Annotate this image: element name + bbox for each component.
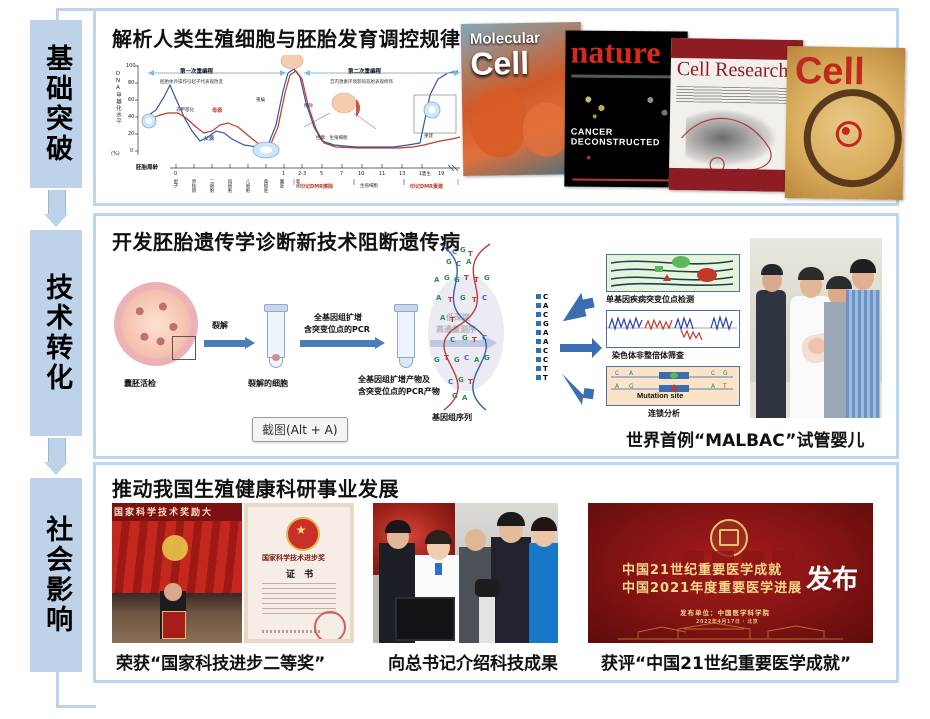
panel-foundation: 解析人类生殖细胞与胚胎发育调控规律 DNA甲基化水平 (%) 100 80 60… bbox=[93, 8, 899, 206]
svg-text:G: G bbox=[484, 354, 490, 362]
chart-x-tick: 1 bbox=[282, 171, 285, 177]
chart-stage-label: 二细胞 bbox=[208, 179, 214, 193]
base-letter: A bbox=[543, 302, 548, 310]
poster-badge: 发布 bbox=[806, 559, 858, 596]
photo-medical-achievement-poster: 中国21世纪重要医学成就 中国2021年度重要医学进展 发布 发布单位：中国医学… bbox=[588, 503, 873, 643]
svg-text:G: G bbox=[444, 274, 450, 282]
svg-text:C: C bbox=[452, 248, 457, 256]
svg-text:G: G bbox=[629, 383, 634, 390]
workflow-arrow-label-pcr: 含突变位点的PCR bbox=[304, 324, 370, 335]
svg-text:C: C bbox=[615, 370, 619, 377]
svg-text:A: A bbox=[629, 370, 634, 377]
base-letter: T bbox=[543, 374, 548, 382]
base-letter: C bbox=[543, 311, 548, 319]
result-box-snv bbox=[606, 254, 740, 292]
result-box-aneuploidy bbox=[606, 310, 740, 348]
workflow-label-biopsy: 囊胚活检 bbox=[124, 378, 156, 389]
chart-phase1-label: 第一次重编程 bbox=[180, 67, 213, 75]
chart-x-tick: 5 bbox=[320, 171, 323, 177]
svg-text:T: T bbox=[468, 250, 473, 258]
svg-text:T: T bbox=[468, 378, 473, 386]
svg-text:T: T bbox=[464, 274, 469, 282]
result-label-linkage: 连锁分析 bbox=[648, 408, 680, 419]
stage-label-foundation: 基础突破 bbox=[42, 44, 70, 164]
chart-phase2-sub: 宫内激素环境影响双胎表观修饰 bbox=[330, 79, 393, 85]
svg-text:C: C bbox=[482, 334, 487, 342]
photo-certificate: 国家科学技术进步奖 证 书 bbox=[244, 503, 354, 643]
svg-text:C: C bbox=[456, 260, 461, 268]
photo-award-ceremony: 国家科学技术奖励大 bbox=[112, 503, 242, 643]
panel-impact-title: 推动我国生殖健康科研事业发展 bbox=[112, 473, 399, 502]
workflow-arrow-1 bbox=[204, 340, 246, 347]
biopsy-selection-box bbox=[172, 336, 196, 360]
svg-text:A: A bbox=[434, 276, 440, 284]
chart-series-erase: 擦除 bbox=[304, 103, 313, 109]
stage-arrow-2 bbox=[44, 438, 68, 475]
stage-box-foundation: 基础突破 bbox=[30, 20, 82, 188]
chart-stage-label: 八细胞 bbox=[244, 179, 250, 193]
stage-box-translation: 技术转化 bbox=[30, 230, 82, 436]
chart-annotation-birth: 出生 bbox=[422, 171, 431, 177]
poster-line-2: 中国2021年度重要医学进展 bbox=[622, 577, 802, 596]
stage-box-impact: 社会影响 bbox=[30, 478, 82, 672]
stage-arrow-1 bbox=[44, 190, 68, 227]
poster-skyline bbox=[618, 615, 843, 641]
photo-malbac-baby bbox=[750, 238, 882, 418]
svg-text:T: T bbox=[444, 354, 449, 362]
methylation-curves bbox=[108, 55, 468, 195]
chart-stage-label: 配子 bbox=[172, 179, 178, 188]
chart-x-tick: 13 bbox=[399, 171, 405, 177]
svg-text:T: T bbox=[474, 276, 479, 284]
svg-text:G: G bbox=[458, 376, 464, 384]
poster-line-1: 中国21世纪重要医学成就 bbox=[622, 559, 782, 578]
chart-series-paternal: 父源 bbox=[204, 135, 214, 142]
svg-text:G: G bbox=[452, 392, 458, 400]
workflow-label-lysed-cell: 裂解的细胞 bbox=[248, 378, 288, 389]
base-letter: C bbox=[543, 293, 548, 301]
svg-text:T: T bbox=[450, 316, 455, 324]
snv-illustration bbox=[607, 255, 737, 289]
genome-base-column: C A C G A A C C T T bbox=[536, 292, 558, 382]
panel-impact: 推动我国生殖健康科研事业发展 国家科学技术奖励大 国家科学技术进步奖 证 书 荣… bbox=[93, 462, 899, 683]
result-box-linkage: C A A G C G A T Mutation site bbox=[606, 366, 740, 406]
svg-text:C: C bbox=[450, 336, 455, 344]
journal-cover-cell-research: Cell Research bbox=[669, 38, 804, 192]
result-branch-arrows bbox=[558, 268, 602, 418]
svg-text:T: T bbox=[472, 336, 477, 344]
chart-phase2-label: 第二次重编程 bbox=[348, 67, 381, 75]
snip-tooltip-label: 截图 bbox=[262, 423, 286, 437]
chart-series-reprogram: 重编 bbox=[256, 97, 265, 103]
chart-stage-label: 桑椹胚 bbox=[262, 179, 268, 193]
svg-text:C: C bbox=[464, 354, 469, 362]
chart-series-demethylation: 去甲基化 bbox=[176, 107, 194, 113]
stage-label-impact: 社会影响 bbox=[42, 515, 70, 635]
chart-annotation-dmr-erase: 印记DMR擦除 bbox=[300, 183, 333, 190]
stage-label-translation: 技术转化 bbox=[42, 273, 70, 393]
photo-leader-briefing bbox=[373, 503, 558, 643]
journal-cover-label: nature bbox=[570, 37, 660, 68]
result-label-snv: 单基因疾病突变位点检测 bbox=[606, 294, 694, 305]
svg-text:A: A bbox=[474, 356, 480, 364]
svg-text:A: A bbox=[436, 294, 442, 302]
base-letter: G bbox=[543, 320, 549, 328]
caption-briefing: 向总书记介绍科技成果 bbox=[388, 649, 558, 674]
snip-tool-tooltip[interactable]: 截图(Alt + A) bbox=[252, 417, 348, 442]
base-letter: A bbox=[543, 329, 548, 337]
svg-text:T: T bbox=[722, 383, 727, 390]
chart-annotation-gonad: 性腺：生殖细胞 bbox=[316, 135, 348, 141]
svg-text:G: G bbox=[460, 294, 466, 302]
chart-x-tick: 19 bbox=[438, 171, 444, 177]
svg-text:G: G bbox=[446, 258, 452, 266]
panel-foundation-title: 解析人类生殖细胞与胚胎发育调控规律 bbox=[112, 23, 461, 52]
base-letter: C bbox=[543, 356, 548, 364]
chart-annotation-dmr-rebuild: 印记DMR重建 bbox=[410, 183, 443, 190]
svg-text:G: G bbox=[454, 276, 460, 284]
caption-medical-achievement: 获评“中国21世纪重要医学成就” bbox=[601, 649, 851, 674]
svg-text:C: C bbox=[482, 294, 487, 302]
caption-malbac-baby: 世界首例“MALBAC”试管婴儿 bbox=[626, 426, 864, 451]
chart-annotation-germ-cells: 生殖细胞 bbox=[360, 183, 378, 189]
chart-series-maternal: 母源 bbox=[212, 107, 222, 114]
result-label-aneuploidy: 染色体非整倍体筛查 bbox=[612, 350, 684, 361]
svg-text:T: T bbox=[448, 296, 453, 304]
dna-helix-illustration: CGT GCA AGGTTG ATGTC AT CGTC GTGCAG CGT … bbox=[394, 238, 544, 418]
rail-bottom-horizontal bbox=[56, 705, 96, 708]
chart-x-tick: 10 bbox=[358, 171, 364, 177]
workflow-arrow-label-wga: 全基因组扩增 bbox=[314, 312, 362, 323]
svg-text:G: G bbox=[454, 356, 460, 364]
journal-cover-label: Cell bbox=[470, 47, 529, 80]
svg-text:G: G bbox=[462, 334, 468, 342]
svg-text:G: G bbox=[484, 274, 490, 282]
base-letter: T bbox=[543, 365, 548, 373]
panel-translation: 开发胚胎遗传学诊断新技术阻断遗传病 囊胚活检 裂解 裂解的细胞 全基因组扩增 含… bbox=[93, 213, 899, 459]
tube-lysed-cell bbox=[264, 304, 288, 368]
chart-x-tick: 7 bbox=[340, 171, 343, 177]
chart-stage-label: 原核期 bbox=[190, 179, 196, 193]
chart-x-axis-title: 胚胎周龄 bbox=[136, 163, 158, 171]
svg-text:G: G bbox=[434, 356, 440, 364]
svg-text:T: T bbox=[472, 296, 477, 304]
journal-cover-cell: Cell bbox=[785, 46, 906, 200]
chart-phase1-sub: 胚胎体外操作引起子代表观改变 bbox=[160, 79, 223, 85]
caption-national-award: 荣获“国家科技进步二等奖” bbox=[116, 649, 325, 674]
certificate-word: 证 书 bbox=[286, 567, 316, 580]
chart-x-tick: 11 bbox=[379, 171, 385, 177]
workflow-label-genome-sequence: 基因组序列 bbox=[432, 412, 472, 423]
base-letter: A bbox=[543, 338, 548, 346]
svg-text:A: A bbox=[440, 314, 446, 322]
methylation-chart: DNA甲基化水平 (%) 100 80 60 40 20 0 bbox=[108, 55, 468, 195]
chart-x-tick: 2-3 bbox=[298, 171, 306, 177]
rail-bottom-vertical bbox=[56, 670, 59, 708]
workflow-arrow-label-lysis: 裂解 bbox=[212, 320, 228, 331]
rail-top-horizontal bbox=[56, 8, 96, 11]
snip-tooltip-shortcut: (Alt + A) bbox=[286, 423, 338, 437]
journal-cover-label: Cell Research bbox=[677, 58, 789, 83]
svg-text:A: A bbox=[466, 258, 472, 266]
chart-stage-label: 囊胚 bbox=[278, 179, 284, 188]
svg-text:C: C bbox=[711, 370, 715, 377]
svg-text:G: G bbox=[460, 246, 466, 254]
award-hall-banner-text: 国家科学技术奖励大 bbox=[114, 505, 213, 518]
svg-text:G: G bbox=[723, 370, 728, 377]
chart-stage-label: 四细胞 bbox=[226, 179, 232, 193]
result-inner-label-mutation-site: Mutation site bbox=[637, 391, 683, 400]
svg-text:A: A bbox=[462, 394, 468, 402]
base-letter: C bbox=[543, 347, 548, 355]
chart-series-rebuild: 重建 bbox=[424, 133, 433, 139]
chart-x-tick: 0 bbox=[174, 171, 177, 177]
journal-cover-label: Cell bbox=[795, 52, 865, 91]
aneuploidy-illustration bbox=[607, 311, 737, 345]
svg-text:C: C bbox=[448, 378, 453, 386]
certificate-title: 国家科学技术进步奖 bbox=[262, 553, 325, 563]
workflow-arrow-2 bbox=[300, 340, 376, 347]
